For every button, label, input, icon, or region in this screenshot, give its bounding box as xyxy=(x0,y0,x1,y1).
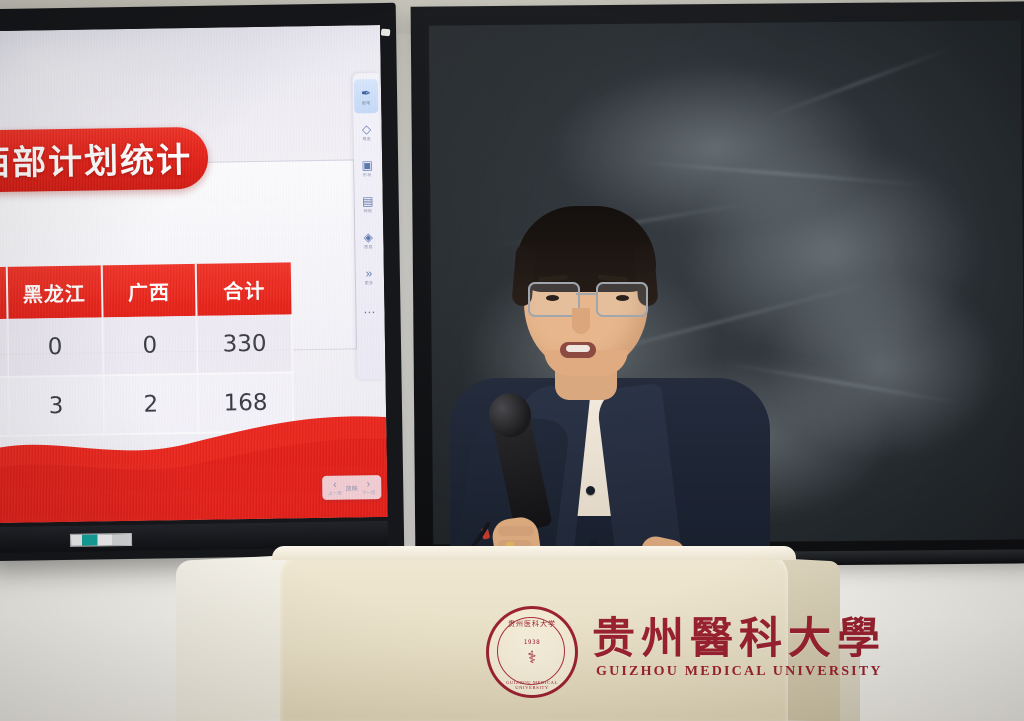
presentation-slide[interactable]: 年西部计划统计 东 黑龙江 广西 合计 5 0 xyxy=(0,25,388,523)
crest-year: 1938 xyxy=(489,639,575,646)
university-name-en: GUIZHOU MEDICAL UNIVERSITY xyxy=(596,664,883,680)
crest-chinese-arc: 贵州医科大学 xyxy=(489,619,575,629)
presenter xyxy=(440,190,780,590)
interactive-display[interactable]: 年西部计划统计 东 黑龙江 广西 合计 5 0 xyxy=(0,3,404,561)
caduceus-icon: ⚕ xyxy=(489,649,575,666)
teeth xyxy=(566,345,590,352)
lecture-scene: 年西部计划统计 东 黑龙江 广西 合计 5 0 xyxy=(0,0,1024,721)
eye-right xyxy=(616,295,629,301)
display-label-sticker xyxy=(70,533,132,547)
cardigan-button xyxy=(586,486,595,495)
eye-left xyxy=(546,295,559,301)
university-name-cn: 贵州醫科大學 xyxy=(592,604,886,666)
crest-english-arc: GUIZHOU MEDICAL UNIVERSITY xyxy=(489,680,575,690)
screen-scanline-overlay xyxy=(0,25,388,523)
ir-sensor-icon xyxy=(381,29,391,37)
nose xyxy=(572,308,590,334)
lectern-top-surface xyxy=(272,546,796,560)
lectern: 贵州医科大学 1938 ⚕ GUIZHOU MEDICAL UNIVERSITY… xyxy=(172,534,842,721)
display-screen[interactable]: 年西部计划统计 东 黑龙江 广西 合计 5 0 xyxy=(0,25,388,523)
university-crest: 贵州医科大学 1938 ⚕ GUIZHOU MEDICAL UNIVERSITY xyxy=(486,606,578,698)
glasses-bridge xyxy=(576,293,596,295)
lectern-front-panel: 贵州医科大学 1938 ⚕ GUIZHOU MEDICAL UNIVERSITY… xyxy=(280,552,788,721)
mouth xyxy=(560,342,596,358)
lectern-side-panel xyxy=(176,555,292,721)
